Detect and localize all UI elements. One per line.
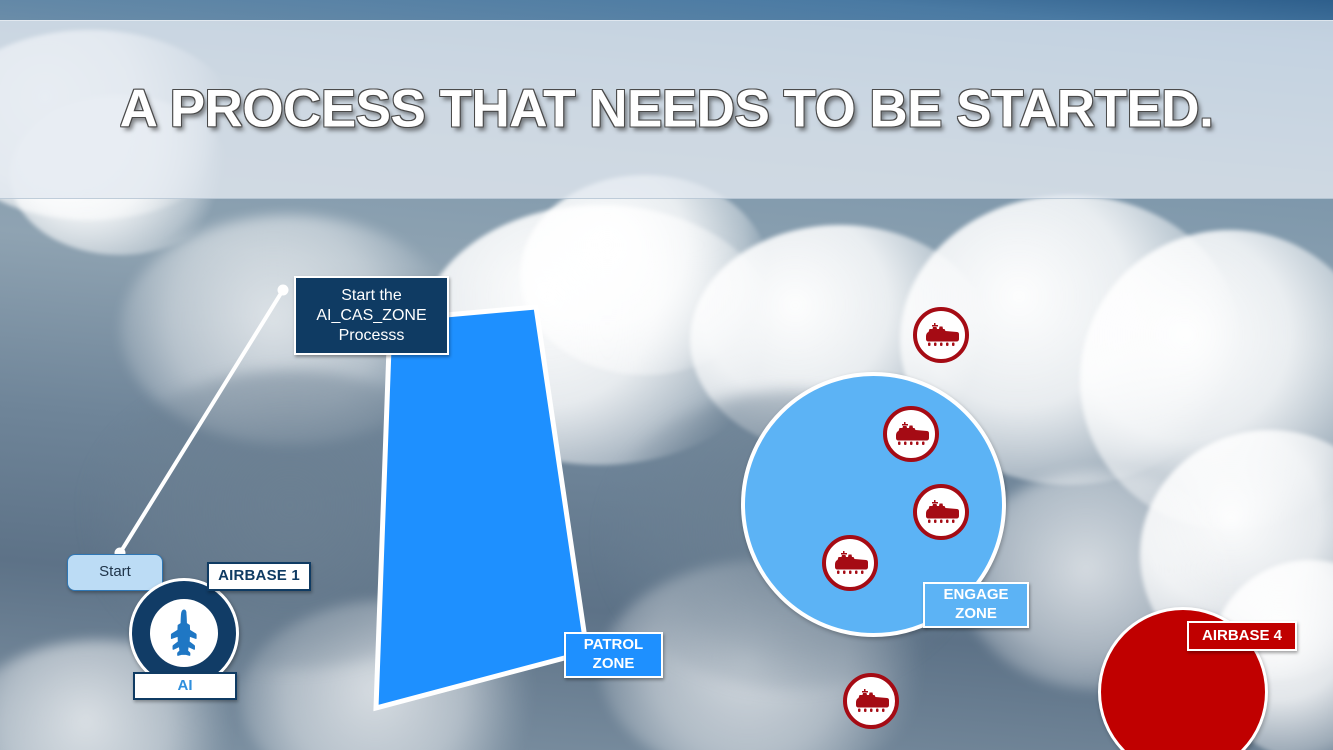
title-band: A PROCESS THAT NEEDS TO BE STARTED.	[0, 20, 1333, 199]
patrol-zone-label-line-2: ZONE	[584, 655, 643, 674]
airbase1-label[interactable]: AIRBASE 1	[207, 562, 311, 591]
armored-vehicle-icon	[893, 421, 929, 447]
slide-canvas: A PROCESS THAT NEEDS TO BE STARTED. Star…	[0, 0, 1333, 750]
fighter-jet-icon	[158, 607, 210, 659]
jet-icon-disc	[150, 599, 218, 667]
tank-marker-zone-right[interactable]	[913, 484, 969, 540]
process-callout-box[interactable]: Start the AI_CAS_ZONE Processs	[294, 276, 449, 355]
tank-marker-north[interactable]	[913, 307, 969, 363]
engage-zone-label-line-2: ZONE	[943, 605, 1008, 624]
tank-marker-south[interactable]	[843, 673, 899, 729]
process-line-3: Processs	[316, 326, 426, 346]
armored-vehicle-icon	[853, 688, 889, 714]
patrol-zone-label[interactable]: PATROL ZONE	[564, 632, 663, 678]
engage-zone-label-line-1: ENGAGE	[943, 586, 1008, 605]
tank-marker-zone-upper[interactable]	[883, 406, 939, 462]
start-button[interactable]: Start	[67, 554, 163, 591]
armored-vehicle-icon	[832, 550, 868, 576]
page-title: A PROCESS THAT NEEDS TO BE STARTED.	[0, 78, 1333, 139]
ai-label[interactable]: AI	[133, 672, 237, 700]
process-line-2: AI_CAS_ZONE	[316, 306, 426, 326]
airbase4-label[interactable]: AIRBASE 4	[1187, 621, 1297, 651]
patrol-zone-label-line-1: PATROL	[584, 636, 643, 655]
armored-vehicle-icon	[923, 499, 959, 525]
armored-vehicle-icon	[923, 322, 959, 348]
process-line-1: Start the	[316, 286, 426, 306]
tank-marker-zone-lower[interactable]	[822, 535, 878, 591]
engage-zone-label[interactable]: ENGAGE ZONE	[923, 582, 1029, 628]
